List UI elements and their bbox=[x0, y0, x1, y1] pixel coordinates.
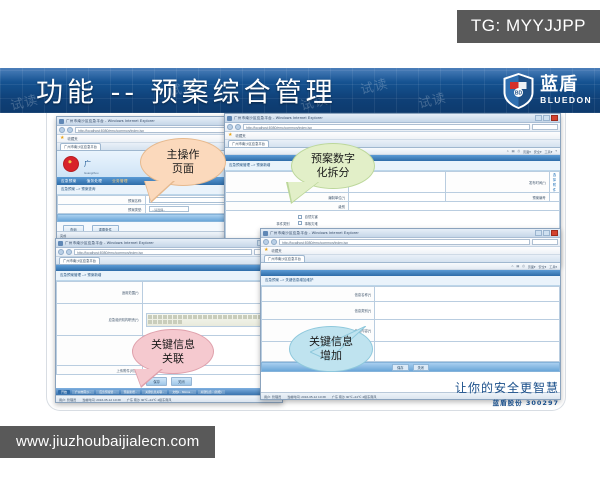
minimize-button[interactable] bbox=[535, 115, 542, 121]
field-cell[interactable] bbox=[375, 320, 560, 342]
field-label: 预案类型: bbox=[58, 205, 146, 214]
field-cell[interactable] bbox=[349, 193, 446, 202]
plan-form-table: 预案名称(*) 发布时间(*) 选择附件 编制单位(*) 预案编号 级别 bbox=[225, 171, 560, 211]
home-icon[interactable]: ⌂ bbox=[511, 264, 513, 268]
rich-text-toolbar[interactable] bbox=[146, 313, 279, 327]
ie-icon bbox=[58, 241, 63, 246]
field-label: 上传附件(可选) bbox=[57, 366, 143, 375]
checkbox-label: 事故灾难 bbox=[305, 221, 318, 226]
field-cell[interactable] bbox=[375, 302, 560, 320]
forward-icon[interactable] bbox=[235, 124, 241, 130]
toolbar-icon[interactable] bbox=[178, 315, 182, 319]
tab-app[interactable]: 广州市南沙区应急平台 bbox=[59, 257, 100, 264]
toolbar-icon[interactable] bbox=[173, 320, 177, 324]
toolbar-icon[interactable] bbox=[198, 315, 202, 319]
checkbox-icon[interactable] bbox=[298, 215, 302, 219]
national-emblem-icon bbox=[63, 156, 79, 172]
taskbar-item[interactable]: 关键信息...(新增) bbox=[198, 390, 225, 394]
brand-name-cn: 蓝盾 bbox=[540, 76, 592, 94]
callout-line1: 主操作 bbox=[167, 148, 200, 161]
back-icon[interactable] bbox=[263, 239, 269, 245]
tab-app[interactable]: 广州市南沙区应急平台 bbox=[264, 255, 305, 262]
back-icon[interactable] bbox=[58, 249, 64, 255]
page-title: 功能 -- 预案综合管理 bbox=[36, 70, 337, 109]
status-bar: 用户: 管理员 当前时间: 2016-05-12 10:38 广东 南沙 30℃… bbox=[56, 395, 282, 402]
print-icon[interactable]: ⎙ bbox=[518, 149, 520, 153]
home-icon[interactable]: ⌂ bbox=[507, 149, 509, 153]
close-button[interactable] bbox=[551, 230, 558, 236]
window-titlebar[interactable]: 广州市南沙区应急平台 - Windows Internet Explorer bbox=[225, 114, 560, 123]
field-label: 信息类别(*) bbox=[262, 302, 375, 320]
toolbar-icon[interactable] bbox=[248, 315, 252, 319]
callout-link-key-info: 关键信息 关联 bbox=[132, 329, 214, 374]
tab-strip[interactable]: 广州市南沙区应急平台 bbox=[261, 255, 560, 263]
toolbar-icon[interactable] bbox=[188, 315, 192, 319]
slide-page: TG: MYYJJPP 试读 试读 试读 试读 试读 功能 -- 预案综合管理 … bbox=[0, 0, 600, 480]
safety-menu[interactable]: 安全▾ bbox=[534, 149, 542, 154]
maximize-button[interactable] bbox=[543, 115, 550, 121]
tg-watermark-tag: TG: MYYJJPP bbox=[457, 10, 600, 43]
title-banner: 试读 试读 试读 试读 试读 功能 -- 预案综合管理 BD 蓝盾 BLUEDO… bbox=[0, 68, 600, 113]
url-input[interactable]: http://localhost:8080/emc/common/index.j… bbox=[243, 124, 530, 130]
field-label: 信息名称(*) bbox=[262, 287, 375, 302]
callout-tail bbox=[288, 182, 318, 202]
ie-icon bbox=[59, 119, 64, 124]
toolbar-icon[interactable] bbox=[233, 315, 237, 319]
nav-item-active[interactable]: 业务管理 bbox=[112, 177, 128, 185]
toolbar-icon[interactable] bbox=[168, 315, 172, 319]
callout-main-page: 主操作 页面 bbox=[140, 138, 226, 186]
taskbar-item[interactable]: 文档1 - Micros... bbox=[169, 390, 195, 394]
star-icon: ★ bbox=[264, 248, 268, 253]
toolbar-icon[interactable] bbox=[158, 320, 162, 324]
toolbar-icon[interactable] bbox=[148, 320, 152, 324]
callout-line1: 预案数字 bbox=[311, 152, 355, 165]
slogan-text: 让你的安全更智慧 bbox=[455, 379, 559, 396]
table-row: 信息名称(*) bbox=[262, 287, 560, 302]
button-row[interactable]: 保存 关闭 bbox=[56, 375, 282, 388]
tools-menu[interactable]: 工具▾ bbox=[549, 264, 557, 269]
window-title: 广州市南沙区应急平台 - Windows Internet Explorer bbox=[65, 241, 154, 246]
star-icon: ★ bbox=[60, 136, 64, 141]
attachment-link[interactable]: 选择附件 bbox=[549, 172, 559, 193]
toolbar-icon[interactable] bbox=[163, 315, 167, 319]
nav-item[interactable]: 值务处理 bbox=[87, 177, 103, 185]
taskbar-item[interactable]: 关键信息关联... bbox=[142, 390, 167, 394]
status-time: 当前时间: 2016-05-12 10:38 bbox=[287, 394, 326, 399]
status-user: 用户: 管理员 bbox=[59, 397, 76, 402]
star-icon: ★ bbox=[228, 133, 232, 138]
start-button[interactable]: 开始 bbox=[58, 390, 70, 394]
back-icon[interactable] bbox=[227, 124, 233, 130]
field-cell[interactable] bbox=[375, 287, 560, 302]
callout-digitize: 预案数字 化拆分 bbox=[291, 143, 375, 189]
close-button[interactable] bbox=[551, 115, 558, 121]
field-label: 预案编号 bbox=[446, 193, 550, 202]
toolbar-icon[interactable] bbox=[178, 320, 182, 324]
search-input[interactable] bbox=[532, 124, 558, 130]
tab-app[interactable]: 广州市南沙区应急平台 bbox=[60, 143, 101, 150]
toolbar-icon[interactable] bbox=[183, 315, 187, 319]
toolbar-icon[interactable] bbox=[148, 315, 152, 319]
table-row: 预案名称(*) 发布时间(*) 选择附件 bbox=[226, 172, 560, 193]
status-text: 完成 bbox=[60, 233, 66, 238]
favorites-bar[interactable]: ★ 收藏夹 bbox=[225, 132, 560, 140]
favorites-label[interactable]: 收藏夹 bbox=[235, 133, 245, 138]
window-title: 广州市南沙区应急平台 - Windows Internet Explorer bbox=[66, 119, 155, 124]
page-menu[interactable]: 页面▾ bbox=[523, 149, 531, 154]
address-bar[interactable]: http://localhost:8080/emc/common/index.j… bbox=[56, 248, 282, 257]
stock-code: 蓝盾股份 300297 bbox=[455, 397, 559, 407]
checkbox-item[interactable]: 自然灾害 bbox=[298, 214, 554, 219]
taskbar-item[interactable]: 广州市南沙... bbox=[72, 390, 94, 394]
callout-line1: 关键信息 bbox=[151, 338, 195, 351]
toolbar-icon[interactable] bbox=[238, 315, 242, 319]
toolbar-icon[interactable] bbox=[168, 320, 172, 324]
ie-icon bbox=[227, 116, 232, 121]
table-row: 编制单位(*) 预案编号 bbox=[226, 193, 560, 202]
field-label: 应急组织机构职责(*) bbox=[57, 304, 143, 336]
tab-app[interactable]: 广州市南沙区应急平台 bbox=[228, 140, 269, 147]
back-icon[interactable] bbox=[59, 127, 65, 133]
field-label: 预案名称: bbox=[58, 196, 146, 205]
tools-menu[interactable]: 工具▾ bbox=[545, 149, 553, 154]
table-row: 信息类别(*) bbox=[262, 302, 560, 320]
command-bar[interactable]: ⌂ ▤ ⎙ 页面▾ 安全▾ 工具▾ ? bbox=[225, 148, 560, 155]
window-title: 广州市南沙区应急平台 - Windows Internet Explorer bbox=[234, 116, 323, 121]
site-name: 广 bbox=[84, 161, 91, 168]
feeds-icon[interactable]: ▤ bbox=[516, 264, 519, 268]
status-weather: 广东 南沙 30℃~24℃ 4级东南风 bbox=[332, 394, 377, 399]
favorites-bar[interactable]: ★ 收藏夹 bbox=[261, 247, 560, 255]
callout-line1: 关键信息 bbox=[309, 335, 353, 348]
checkbox-icon[interactable] bbox=[298, 221, 302, 225]
callout-line2: 增加 bbox=[320, 349, 342, 362]
forward-icon[interactable] bbox=[66, 249, 72, 255]
maximize-button[interactable] bbox=[543, 230, 550, 236]
close-form-button[interactable]: 关闭 bbox=[171, 377, 192, 386]
field-cell[interactable] bbox=[549, 193, 559, 202]
minimize-button[interactable] bbox=[535, 230, 542, 236]
field-label: 适用范围(*) bbox=[57, 282, 143, 304]
print-icon[interactable]: ⎙ bbox=[522, 264, 524, 268]
shield-icon: BD bbox=[502, 72, 535, 110]
toolbar-icon[interactable] bbox=[153, 315, 157, 319]
forward-icon[interactable] bbox=[271, 239, 277, 245]
toolbar-icon[interactable] bbox=[253, 315, 257, 319]
taskbar[interactable]: 开始 广州市南沙... 应急预案管... 预案新增... 关键信息关联... 文… bbox=[56, 388, 282, 395]
nav-item[interactable]: 应急预案 bbox=[61, 177, 77, 185]
footer-slogan: 让你的安全更智慧 蓝盾股份 300297 bbox=[455, 379, 559, 407]
help-icon[interactable]: ? bbox=[555, 149, 557, 153]
page-menu[interactable]: 页面▾ bbox=[528, 264, 536, 269]
plan-type-select[interactable]: --请选择-- bbox=[149, 206, 189, 212]
favorites-label[interactable]: 收藏夹 bbox=[67, 136, 77, 141]
callout-add-key-info: 关键信息 增加 bbox=[289, 326, 373, 372]
brand-name-en: BLUEDON bbox=[540, 96, 592, 105]
taskbar-item[interactable]: 应急预案管... bbox=[96, 390, 118, 394]
browser-window-bottom-left[interactable]: 广州市南沙区应急平台 - Windows Internet Explorer h… bbox=[55, 238, 283, 403]
toolbar-icon[interactable] bbox=[223, 315, 227, 319]
callout-line2: 关联 bbox=[162, 352, 184, 365]
tab-strip[interactable]: 广州市南沙区应急平台 bbox=[225, 140, 560, 148]
field-cell[interactable] bbox=[349, 202, 560, 211]
status-user: 用户: 管理员 bbox=[264, 394, 281, 399]
table-row: 级别 bbox=[226, 202, 560, 211]
callout-tail bbox=[135, 369, 161, 386]
close-form-button[interactable]: 关闭 bbox=[413, 364, 429, 371]
url-input[interactable]: http://localhost:8080/emc/common/index.j… bbox=[279, 239, 530, 245]
svg-text:BD: BD bbox=[515, 90, 523, 96]
checkbox-item[interactable]: 事故灾难 bbox=[298, 221, 554, 226]
toolbar-icon[interactable] bbox=[228, 315, 232, 319]
toolbar-icon[interactable] bbox=[163, 320, 167, 324]
toolbar-icon[interactable] bbox=[243, 315, 247, 319]
breadcrumb: 应急预案管理 --> 预案新增 bbox=[56, 271, 282, 281]
address-bar[interactable]: http://localhost:8080/emc/common/index.j… bbox=[261, 238, 560, 247]
site-name-en: Guangzhou bbox=[84, 171, 98, 175]
window-titlebar[interactable]: 广州市南沙区应急平台 - Windows Internet Explorer bbox=[56, 239, 282, 248]
toolbar-icon[interactable] bbox=[193, 315, 197, 319]
toolbar-icon[interactable] bbox=[158, 315, 162, 319]
toolbar-icon[interactable] bbox=[208, 315, 212, 319]
window-title: 广州市南沙区应急平台 - Windows Internet Explorer bbox=[270, 231, 359, 236]
window-titlebar[interactable]: 广州市南沙区应急平台 - Windows Internet Explorer bbox=[261, 229, 560, 238]
forward-icon[interactable] bbox=[67, 127, 73, 133]
save-button[interactable]: 保存 bbox=[392, 364, 408, 371]
field-label: 发布时间(*) bbox=[446, 172, 550, 193]
callout-line2: 化拆分 bbox=[317, 166, 350, 179]
callout-line2: 页面 bbox=[172, 162, 194, 175]
toolbar-icon[interactable] bbox=[153, 320, 157, 324]
tab-strip[interactable]: 广州市南沙区应急平台 bbox=[56, 257, 282, 265]
toolbar-icon[interactable] bbox=[218, 315, 222, 319]
site-url-tag: www.jiuzhoubaijialecn.com bbox=[0, 426, 215, 458]
address-bar[interactable]: http://localhost:8080/emc/common/index.j… bbox=[225, 123, 560, 132]
callout-tail bbox=[145, 181, 173, 201]
bluedon-logo: BD 蓝盾 BLUEDON bbox=[502, 72, 592, 110]
field-cell[interactable] bbox=[375, 342, 560, 362]
ie-icon bbox=[263, 231, 268, 236]
favorites-label[interactable]: 收藏夹 bbox=[271, 248, 281, 253]
toolbar-icon[interactable] bbox=[203, 315, 207, 319]
toolbar-icon[interactable] bbox=[213, 315, 217, 319]
taskbar-item[interactable]: 预案新增... bbox=[121, 390, 141, 394]
toolbar-icon[interactable] bbox=[173, 315, 177, 319]
command-bar[interactable]: ⌂ ▤ ⎙ 页面▾ 安全▾ 工具▾ bbox=[261, 263, 560, 270]
feeds-icon[interactable]: ▤ bbox=[512, 149, 515, 153]
safety-menu[interactable]: 安全▾ bbox=[539, 264, 547, 269]
status-weather: 广东 南沙 30℃~24℃ 4级东南风 bbox=[127, 397, 172, 402]
table-row: 适用范围(*) bbox=[57, 282, 282, 304]
breadcrumb: 应急预案 --> 关键信息增加维护 bbox=[261, 276, 560, 286]
search-input[interactable] bbox=[532, 239, 558, 245]
browser-window-bottom-right[interactable]: 广州市南沙区应急平台 - Windows Internet Explorer h… bbox=[260, 228, 561, 400]
breadcrumb: 应急预案管理 --> 预案新增 bbox=[225, 161, 560, 171]
url-input[interactable]: http://localhost:8080/emc/common/index.j… bbox=[74, 249, 252, 255]
status-time: 当前时间: 2016-05-12 10:38 bbox=[82, 397, 121, 402]
checkbox-label: 自然灾害 bbox=[305, 214, 318, 219]
field-label: 备注 bbox=[57, 336, 143, 366]
